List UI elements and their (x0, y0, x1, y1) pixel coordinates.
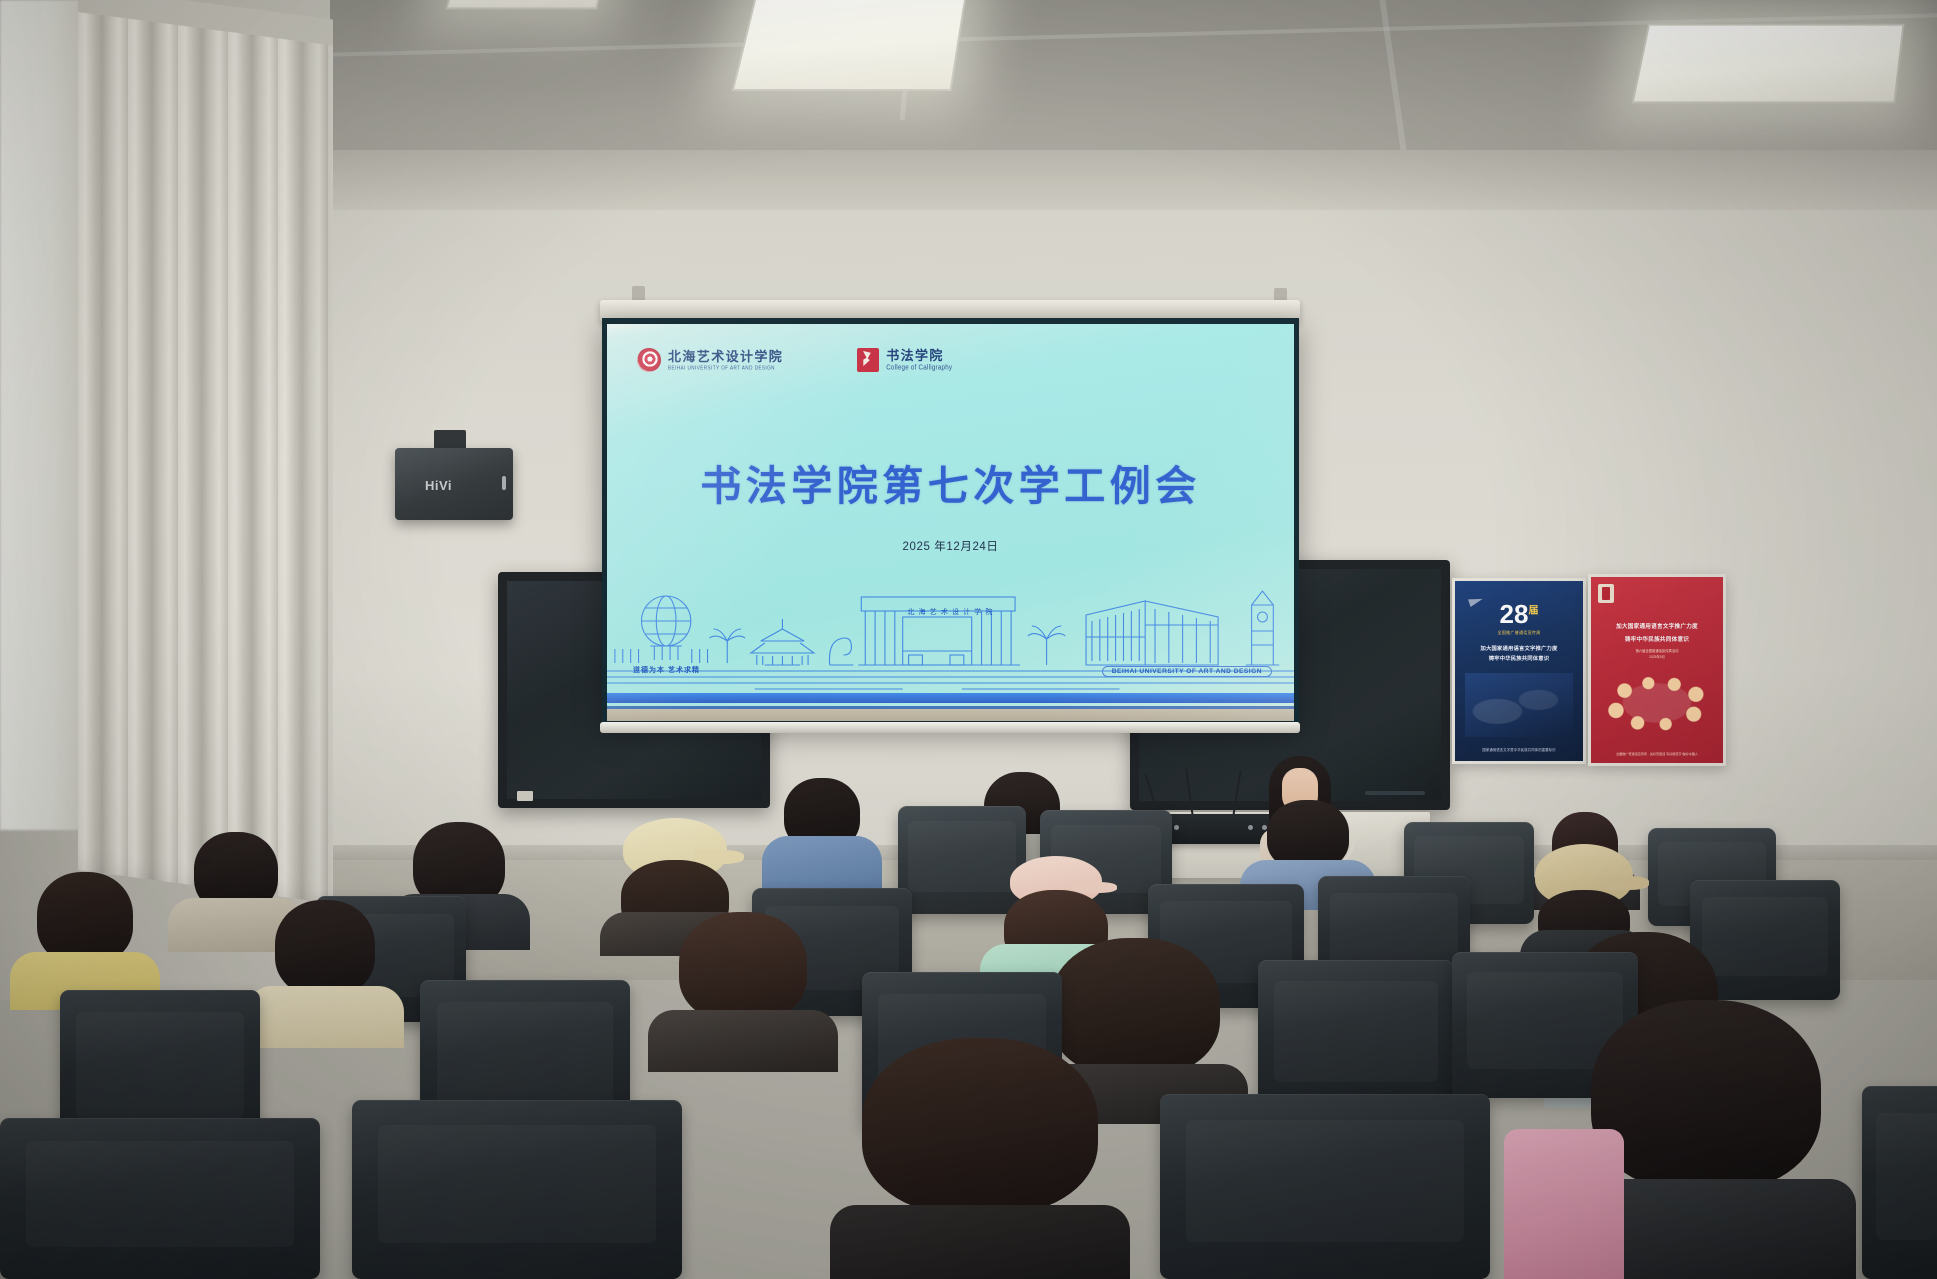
audience-person (1504, 1090, 1624, 1279)
seat-chair[interactable] (0, 1118, 320, 1279)
seat-chair[interactable] (1862, 1086, 1937, 1279)
poster-mandarin-week-blue: 28届 全国推广普通话宣传周 加大国家通用语言文字推广力度 铸牢中华民族共同体意… (1452, 578, 1586, 764)
college-logo-text: 书法学院 College of Calligraphy (886, 349, 952, 371)
display-control-strip[interactable] (1365, 791, 1425, 795)
cap-brim-icon (694, 850, 744, 864)
poster-footer: 国家通用语言文字是中华民族共同体的重要标识 (1463, 747, 1575, 752)
audience-person (246, 900, 404, 1048)
poster-mandarin-week-red: 加大国家通用语言文字推广力度 铸牢中华民族共同体意识 第六届全国普通话宣传周活动… (1588, 574, 1726, 766)
college-logo: 书法学院 College of Calligraphy (857, 348, 952, 372)
poster-sub-1: 第六届全国普通话宣传周活动 (1597, 648, 1717, 653)
poster-sub-2: 2025年9月 (1597, 654, 1717, 659)
audience-person (762, 778, 882, 888)
person-head (37, 872, 133, 964)
cap-brim-icon (1073, 882, 1117, 893)
seal-icon (1598, 584, 1614, 603)
display-badge (517, 791, 533, 801)
poster-footer: 全国推广普通话宣传周 · 说好普通话 写好规范字 做好中国人 (1597, 752, 1717, 757)
person-head (862, 1038, 1098, 1214)
ceiling-light-panel (445, 0, 612, 9)
poster-subtitle: 全国推广普通话宣传周 (1498, 630, 1541, 636)
rack-knob-icon[interactable] (1174, 825, 1179, 830)
poster-line-1: 加大国家通用语言文字推广力度 (1597, 622, 1717, 630)
seat-chair[interactable] (1160, 1094, 1490, 1279)
university-logo-text: 北海艺术设计学院 BEIHAI UNIVERSITY OF ART AND DE… (668, 350, 783, 371)
seat-chair[interactable] (1258, 960, 1454, 1112)
speaker-brand-label: HiVi (425, 478, 452, 493)
person-head (275, 900, 375, 996)
college-name-en: College of Calligraphy (886, 365, 952, 372)
wall-speaker: HiVi (395, 448, 513, 520)
spiral-logo-icon (637, 348, 661, 372)
person-torso (246, 986, 404, 1048)
university-name-cn: 北海艺术设计学院 (668, 350, 783, 363)
person-torso (762, 836, 882, 888)
university-name-en: BEIHAI UNIVERSITY OF ART AND DESIGN (668, 366, 783, 371)
slide-logo-row: 北海艺术设计学院 BEIHAI UNIVERSITY OF ART AND DE… (637, 348, 952, 372)
paper-plane-icon (1468, 595, 1484, 607)
poster-artwork (1465, 673, 1573, 737)
audience-person (830, 1038, 1130, 1279)
projection-screen-weight-bar (600, 722, 1300, 733)
poster-children-illustration (1603, 672, 1711, 734)
college-name-cn: 书法学院 (886, 349, 952, 362)
skyline-base-bar (607, 709, 1294, 721)
projection-screen: 北海艺术设计学院 BEIHAI UNIVERSITY OF ART AND DE… (602, 318, 1299, 726)
poster-line-2: 铸牢中华民族共同体意识 (1462, 654, 1576, 662)
ceiling-light-panel (732, 0, 968, 91)
person-head (679, 912, 807, 1022)
audience-person (648, 912, 838, 1072)
university-motto: 道德为本 艺术求精 (633, 665, 700, 675)
gate-building-label: 北 海 艺 术 设 计 学 院 (907, 607, 993, 617)
person-torso (648, 1010, 838, 1072)
poster-line-1: 加大国家通用语言文字推广力度 (1462, 644, 1576, 652)
seal-logo-icon (857, 348, 879, 372)
window-curtain (78, 0, 333, 904)
university-logo: 北海艺术设计学院 BEIHAI UNIVERSITY OF ART AND DE… (637, 348, 783, 372)
person-head (1591, 1000, 1821, 1190)
ceiling-light-panel (1632, 24, 1905, 104)
slide-title: 书法学院第七次学工例会 (607, 452, 1294, 512)
university-en-banner: BEIHAI UNIVERSITY OF ART AND DESIGN (1102, 666, 1272, 677)
person-torso (830, 1205, 1130, 1279)
wall-upper-band (300, 150, 1937, 210)
person-item (1504, 1129, 1624, 1279)
campus-skyline-illustration: 北 海 艺 术 设 计 学 院 道德为本 艺术求精 BEIHAI UNIVERS… (607, 571, 1294, 721)
projected-slide: 北海艺术设计学院 BEIHAI UNIVERSITY OF ART AND DE… (607, 324, 1294, 721)
cap-brim-icon (1602, 876, 1649, 890)
lecture-hall-photo: HiVi 28届 全国推广普通话宣传周 加大国家通用语言文字推广力度 铸牢中华民… (0, 0, 1937, 1279)
slide-date: 2025 年12月24日 (607, 538, 1294, 554)
poster-line-2: 铸牢中华民族共同体意识 (1597, 635, 1717, 643)
speaker-indicator-icon (502, 476, 506, 490)
poster-number: 28届 (1500, 601, 1539, 627)
skyline-accent-bar (607, 693, 1294, 703)
seat-chair[interactable] (352, 1100, 682, 1279)
